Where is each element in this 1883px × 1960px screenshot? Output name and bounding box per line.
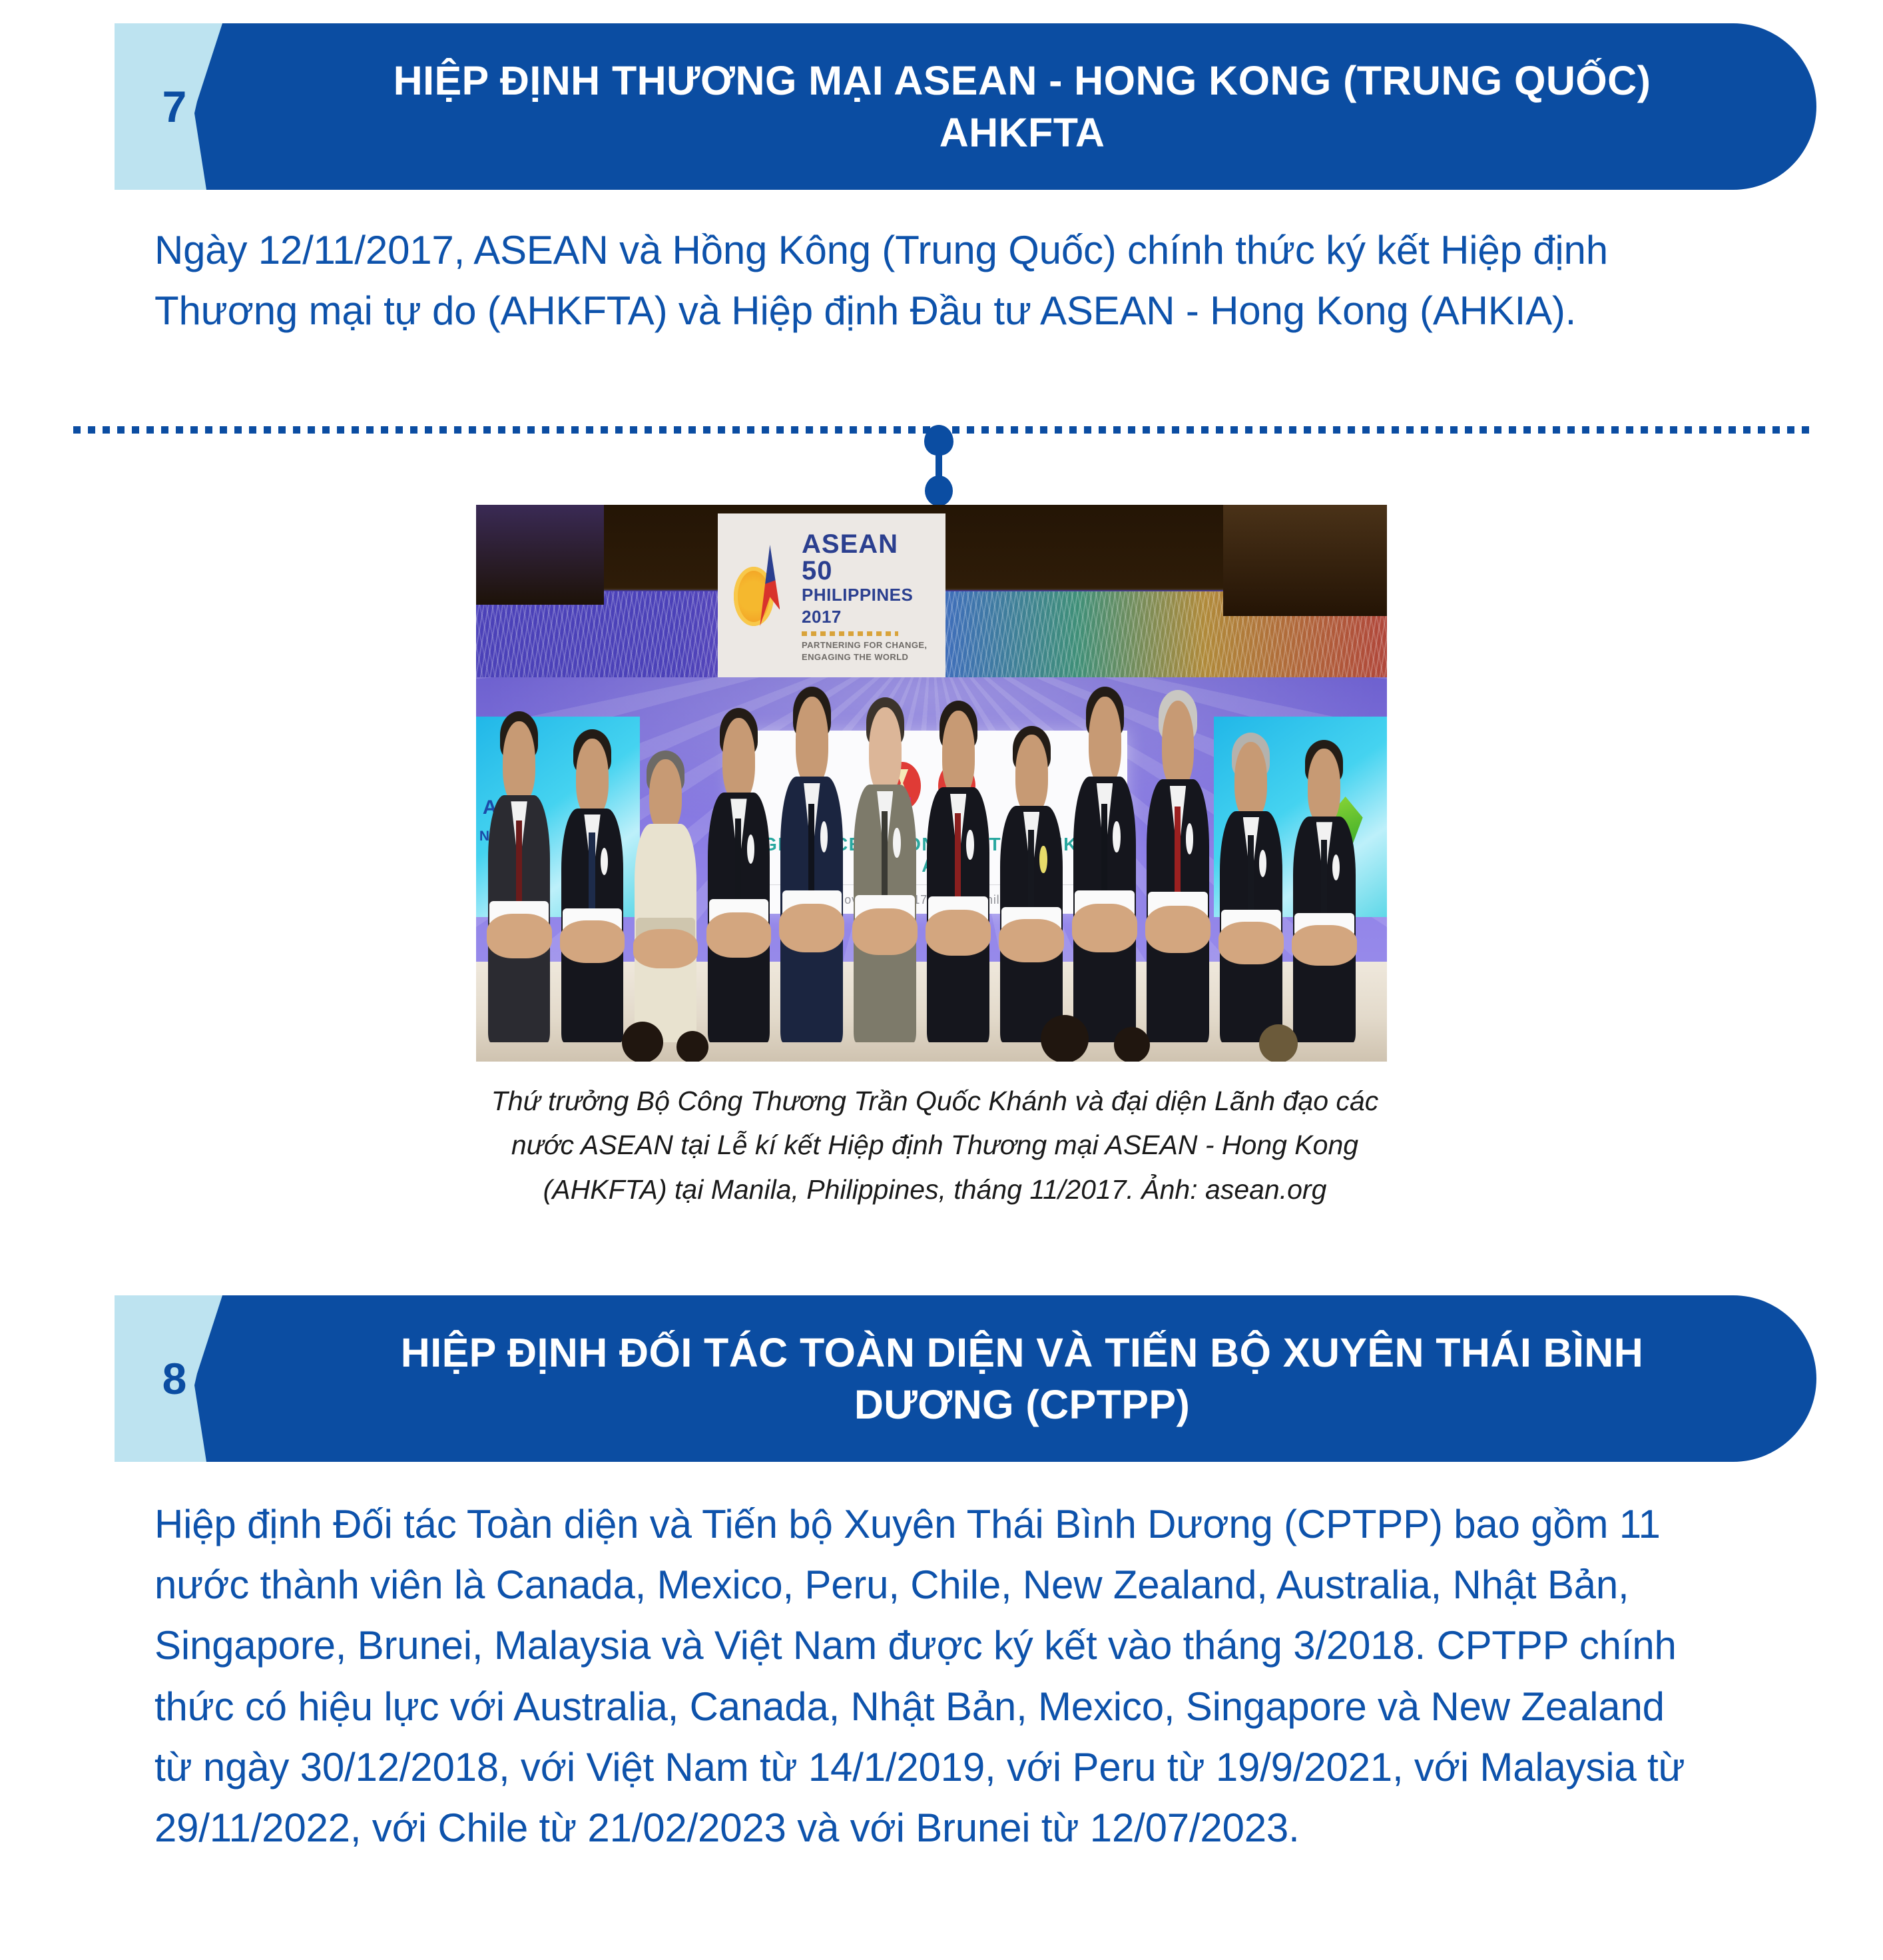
figure-tie	[589, 832, 595, 912]
official-figure	[559, 739, 627, 1042]
figure-badge	[966, 830, 973, 860]
figure-head	[576, 739, 609, 818]
figure-badge	[893, 828, 900, 858]
figure-badge	[1113, 821, 1120, 852]
figure-head	[796, 697, 828, 787]
figure-hands	[487, 914, 552, 958]
official-figure	[1071, 697, 1139, 1042]
pin-bottom-dot	[925, 476, 953, 506]
figure-tie	[1028, 830, 1034, 910]
figure-hands	[1218, 922, 1284, 964]
audience-head	[676, 1031, 708, 1062]
section-title-banner-7: HIỆP ĐỊNH THƯƠNG MẠI ASEAN - HONG KONG (…	[194, 23, 1816, 190]
figure-tie	[1321, 840, 1327, 916]
figure-badge	[820, 821, 828, 852]
asean50-logo-line2: PHILIPPINES 2017	[802, 584, 936, 629]
official-figure	[632, 759, 700, 1042]
audience-head	[622, 1022, 663, 1062]
figure-head	[1308, 749, 1340, 825]
audience-head	[1114, 1027, 1150, 1062]
figure-tie	[955, 813, 961, 899]
figure-tie	[808, 804, 814, 894]
figure-head	[649, 759, 682, 833]
figure-tie	[516, 820, 522, 904]
figure-hands	[560, 920, 625, 963]
official-figure	[778, 697, 846, 1042]
asean50-logo-tagline: PARTNERING FOR CHANGE, ENGAGING THE WORL…	[802, 639, 936, 663]
figure-hands	[1145, 906, 1210, 954]
official-figure	[704, 718, 772, 1042]
section-paragraph-8: Hiệp định Đối tác Toàn diện và Tiến bộ X…	[154, 1494, 1706, 1858]
figure-hands	[633, 929, 698, 969]
figure-hands	[852, 908, 918, 955]
figure-tie	[735, 818, 741, 903]
section-title-8: HIỆP ĐỊNH ĐỐI TÁC TOÀN DIỆN VÀ TIẾN BỘ X…	[194, 1327, 1816, 1431]
figure-head	[503, 721, 535, 805]
asean50-logo-line1: ASEAN 50	[802, 531, 936, 584]
officials-row	[485, 697, 1378, 1042]
figure-hands	[999, 919, 1064, 962]
figure-head	[1162, 701, 1195, 789]
official-figure	[924, 711, 992, 1042]
photo-canvas: ASEAN 50 PHILIPPINES 2017 PARTNERING FOR…	[476, 505, 1387, 1062]
official-figure	[1144, 701, 1212, 1042]
ceremony-photo: ASEAN 50 PHILIPPINES 2017 PARTNERING FOR…	[476, 505, 1387, 1062]
figure-hands	[926, 910, 991, 956]
section-paragraph-7: Ngày 12/11/2017, ASEAN và Hồng Kông (Tru…	[154, 220, 1699, 341]
photo-caption: Thứ trưởng Bộ Công Thương Trần Quốc Khán…	[475, 1079, 1394, 1211]
audience-head	[1041, 1015, 1089, 1062]
audience-silhouettes	[476, 1012, 1387, 1062]
figure-head	[1015, 735, 1048, 815]
figure-tie	[1101, 804, 1107, 894]
section-banner-7: 7 HIỆP ĐỊNH THƯƠNG MẠI ASEAN - HONG KONG…	[115, 23, 1816, 190]
figure-tie	[1175, 807, 1181, 895]
audience-head	[1259, 1024, 1298, 1062]
figure-hands	[779, 904, 844, 952]
figure-head	[1089, 697, 1121, 787]
pin-connector-icon	[924, 425, 953, 505]
figure-head	[1234, 742, 1267, 820]
official-figure	[1290, 749, 1358, 1042]
figure-badge	[1039, 846, 1047, 874]
asean-sun-icon	[724, 535, 802, 659]
official-figure	[1217, 742, 1285, 1042]
official-figure	[851, 707, 919, 1042]
figure-tie	[882, 811, 888, 898]
section-number-8: 8	[162, 1357, 187, 1401]
figure-hands	[706, 912, 772, 958]
section-banner-8: 8 HIỆP ĐỊNH ĐỐI TÁC TOÀN DIỆN VÀ TIẾN BỘ…	[115, 1295, 1816, 1462]
asean50-logo-board: ASEAN 50 PHILIPPINES 2017 PARTNERING FOR…	[718, 513, 945, 681]
figure-badge	[601, 848, 608, 875]
photo-backwall-left	[476, 505, 604, 605]
asean50-logo-dots	[802, 631, 898, 636]
photo-backwall-right	[1223, 505, 1387, 616]
figure-tie	[1248, 835, 1254, 913]
section-number-7: 7	[162, 85, 187, 129]
figure-hands	[1072, 904, 1137, 952]
infographic-page: 7 HIỆP ĐỊNH THƯƠNG MẠI ASEAN - HONG KONG…	[0, 0, 1883, 1960]
official-figure	[997, 735, 1065, 1042]
figure-head	[722, 718, 755, 803]
asean50-logo-text: ASEAN 50 PHILIPPINES 2017 PARTNERING FOR…	[802, 531, 945, 663]
figure-hands	[1292, 925, 1357, 966]
section-title-7: HIỆP ĐỊNH THƯƠNG MẠI ASEAN - HONG KONG (…	[194, 55, 1816, 159]
official-figure	[485, 721, 553, 1042]
figure-head	[942, 711, 975, 797]
section-title-banner-8: HIỆP ĐỊNH ĐỐI TÁC TOÀN DIỆN VÀ TIẾN BỘ X…	[194, 1295, 1816, 1462]
figure-head	[869, 707, 902, 795]
figure-badge	[747, 834, 754, 864]
